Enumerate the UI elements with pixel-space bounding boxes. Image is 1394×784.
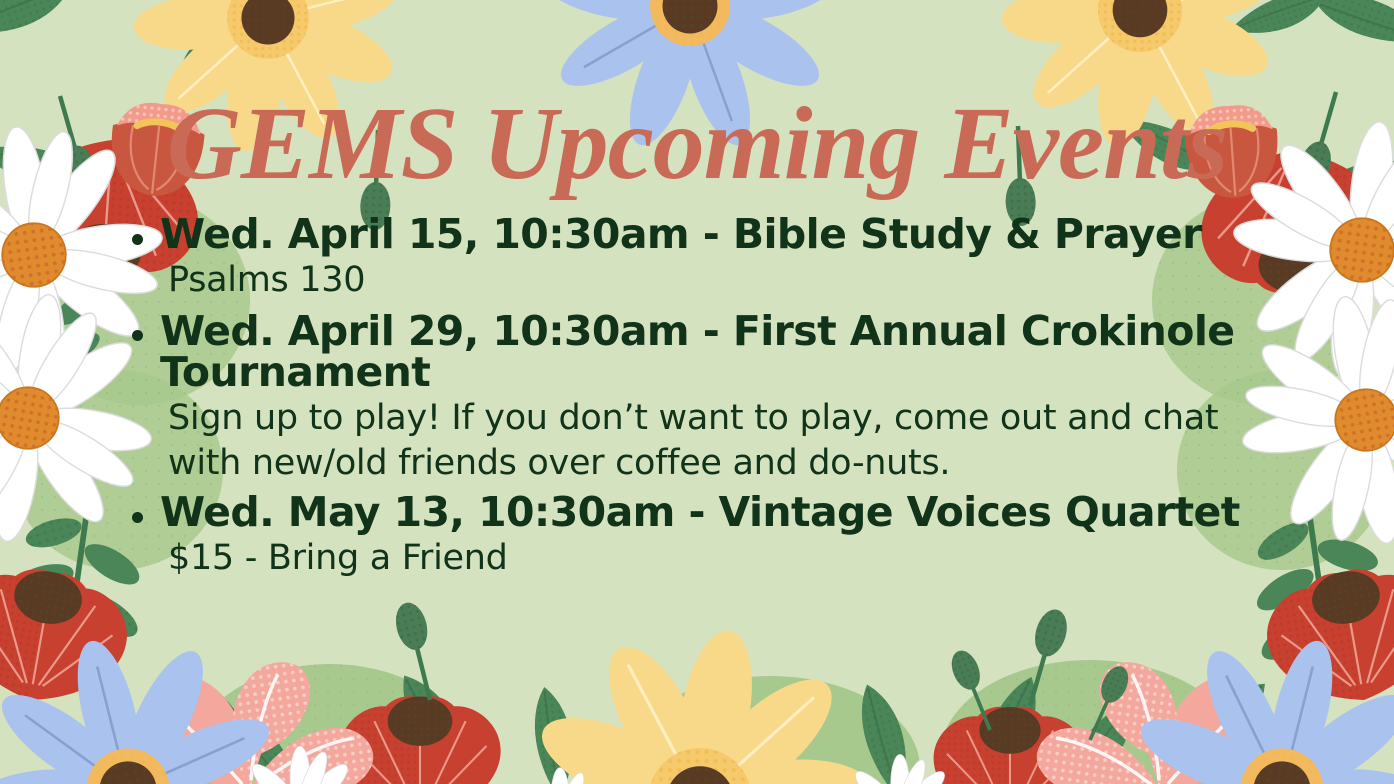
event-detail: $15 - Bring a Friend [128, 536, 1288, 581]
bullet-icon [132, 512, 143, 523]
event-headline-text: Wed. April 29, 10:30am - First Annual Cr… [160, 307, 1234, 397]
events-list: Wed. April 15, 10:30am - Bible Study & P… [128, 214, 1288, 580]
page-title: GEMS Upcoming Events [0, 92, 1394, 196]
bullet-icon [132, 330, 143, 341]
event-headline-text: Wed. April 15, 10:30am - Bible Study & P… [160, 210, 1202, 258]
bullet-icon [132, 234, 143, 245]
event-item-2: Wed. April 29, 10:30am - First Annual Cr… [128, 311, 1288, 486]
event-headline: Wed. April 15, 10:30am - Bible Study & P… [128, 214, 1288, 256]
event-detail: Psalms 130 [128, 258, 1288, 303]
event-item-1: Wed. April 15, 10:30am - Bible Study & P… [128, 214, 1288, 303]
event-detail: Sign up to play! If you don’t want to pl… [128, 396, 1283, 486]
poster-canvas: GEMS Upcoming Events Wed. April 15, 10:3… [0, 0, 1394, 784]
event-headline: Wed. May 13, 10:30am - Vintage Voices Qu… [128, 492, 1288, 534]
event-headline-text: Wed. May 13, 10:30am - Vintage Voices Qu… [160, 488, 1240, 536]
event-item-3: Wed. May 13, 10:30am - Vintage Voices Qu… [128, 492, 1288, 581]
event-headline: Wed. April 29, 10:30am - First Annual Cr… [128, 311, 1288, 395]
